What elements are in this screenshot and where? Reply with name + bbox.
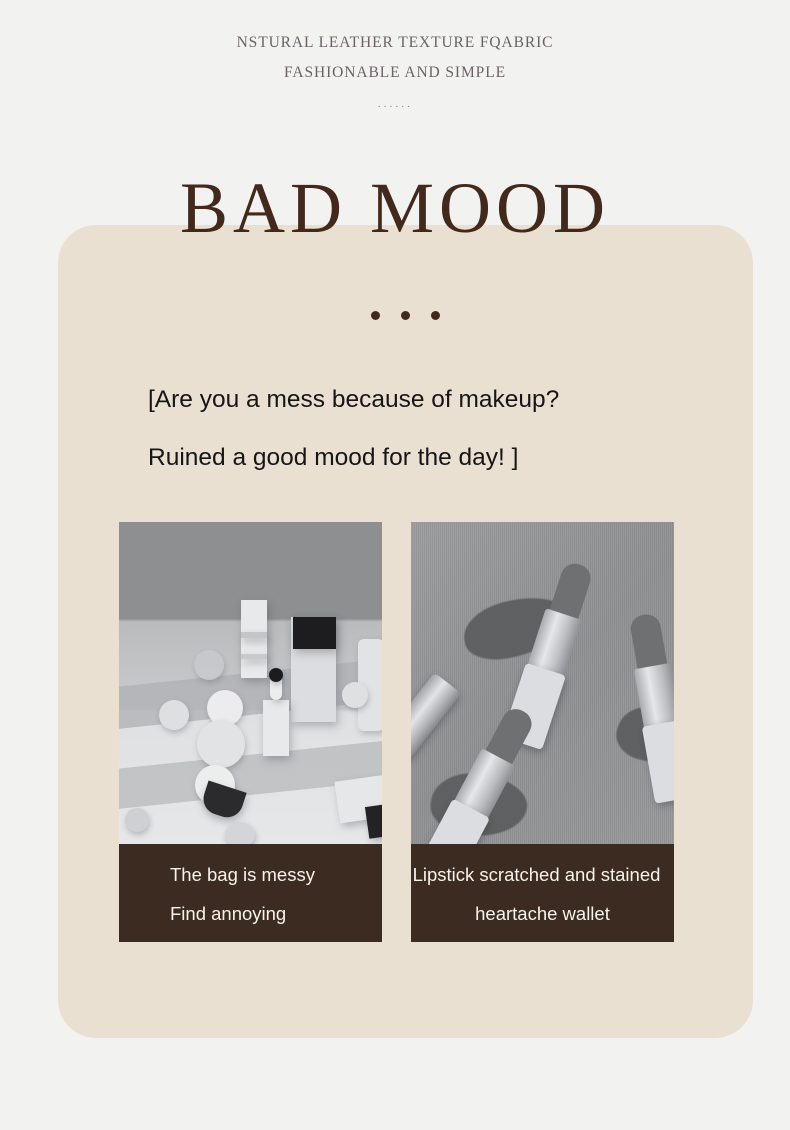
- body-line-1: [Are you a mess because of makeup?: [148, 371, 708, 429]
- photo-block-left: The bag is messy Find annoying: [119, 522, 382, 942]
- photo-caption-left: The bag is messy Find annoying: [119, 844, 382, 942]
- caption-right-line-1: Lipstick scratched and stained: [399, 855, 674, 894]
- body-copy: [Are you a mess because of makeup? Ruine…: [148, 371, 708, 487]
- header-ornament-dots: ······: [0, 102, 790, 112]
- caption-left-line-1: The bag is messy: [170, 855, 382, 894]
- header-line-1: NSTURAL LEATHER TEXTURE FQABRIC: [0, 28, 790, 58]
- caption-right-line-2: heartache wallet: [411, 894, 674, 933]
- divider-dots: [58, 311, 753, 320]
- lipsticks-photo: [411, 522, 674, 844]
- cosmetics-shelf-photo: [119, 522, 382, 844]
- content-card: [Are you a mess because of makeup? Ruine…: [58, 225, 753, 1038]
- photo-block-right: Lipstick scratched and stained heartache…: [411, 522, 674, 942]
- header-line-2: FASHIONABLE AND SIMPLE: [0, 58, 790, 88]
- page-title: BAD MOOD: [0, 168, 790, 248]
- divider-dot-icon: [401, 311, 410, 320]
- photo-pair: The bag is messy Find annoying: [119, 522, 736, 942]
- divider-dot-icon: [431, 311, 440, 320]
- body-line-2: Ruined a good mood for the day! ]: [148, 429, 708, 487]
- caption-left-line-2: Find annoying: [170, 894, 382, 933]
- divider-dot-icon: [371, 311, 380, 320]
- page-header: NSTURAL LEATHER TEXTURE FQABRIC FASHIONA…: [0, 0, 790, 112]
- photo-caption-right: Lipstick scratched and stained heartache…: [411, 844, 674, 942]
